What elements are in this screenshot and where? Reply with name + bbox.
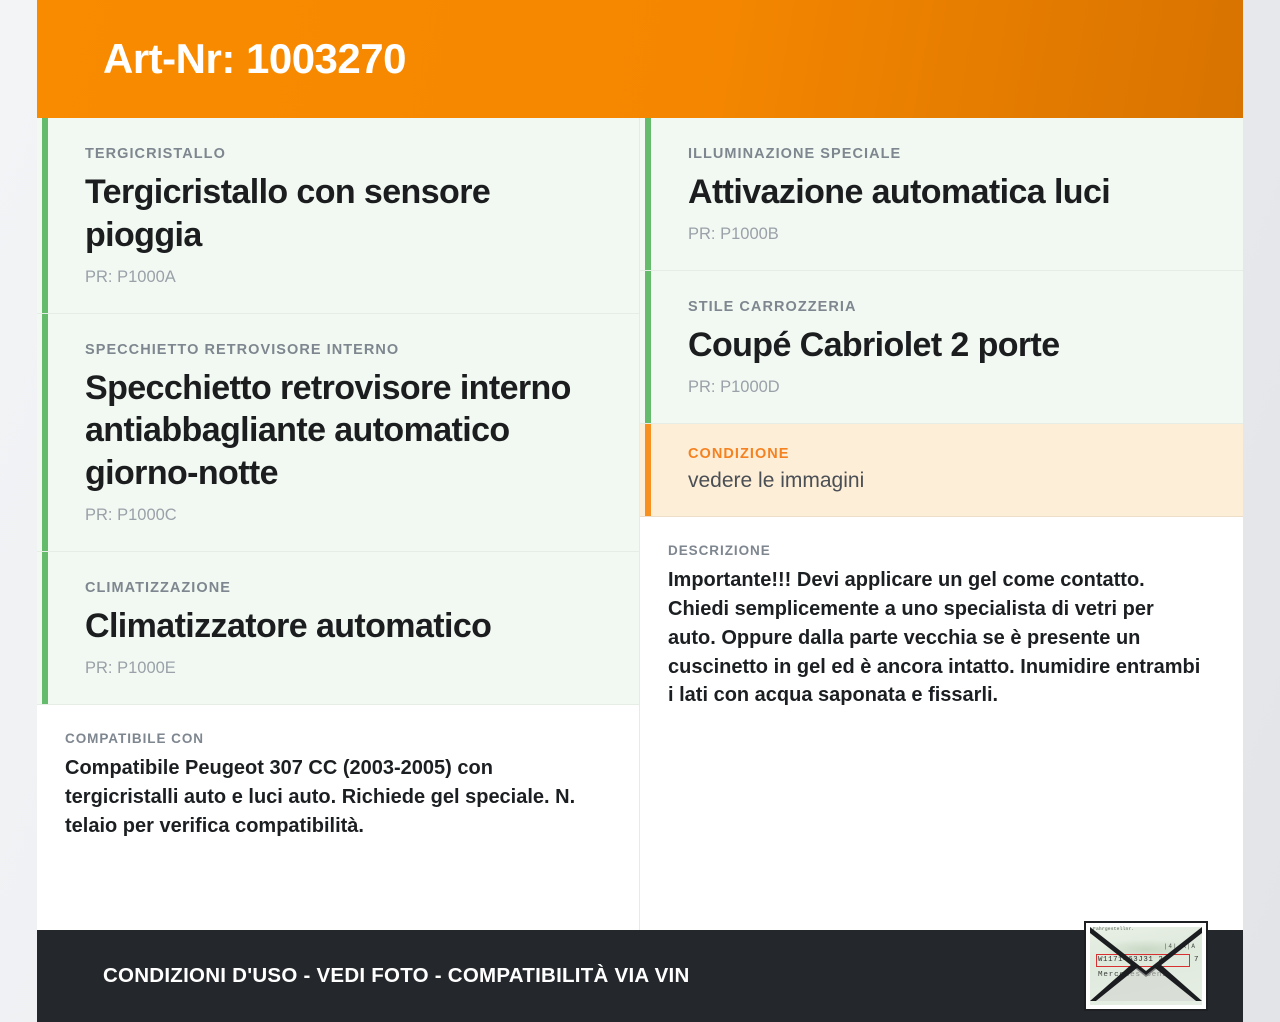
spec-card-climatizzazione[interactable]: CLIMATIZZAZIONE Climatizzatore automatic…: [37, 552, 639, 705]
article-number-title: Art-Nr: 1003270: [37, 35, 406, 83]
right-column: ILLUMINAZIONE SPECIALE Attivazione autom…: [640, 118, 1243, 930]
footer-bar: CONDIZIONI D'USO - VEDI FOTO - COMPATIBI…: [37, 930, 1243, 1022]
vin-side-codes: |4| A|A: [1164, 943, 1196, 950]
vin-number-text: W1171463J31 2: [1098, 956, 1163, 964]
right-column-spacer: [640, 736, 1243, 930]
spec-columns: TERGICRISTALLO Tergicristallo con sensor…: [37, 118, 1243, 930]
header-bar: Art-Nr: 1003270: [37, 0, 1243, 118]
spec-pr-code: PR: P1000D: [688, 378, 1209, 397]
spec-label: ILLUMINAZIONE SPECIALE: [688, 146, 1209, 162]
vin-make-text: Mercedes-Benz: [1098, 971, 1168, 979]
spec-value: Climatizzatore automatico: [85, 605, 605, 648]
spec-card-tergicristallo[interactable]: TERGICRISTALLO Tergicristallo con sensor…: [37, 118, 639, 314]
spec-label: CLIMATIZZAZIONE: [85, 580, 605, 596]
left-column: TERGICRISTALLO Tergicristallo con sensor…: [37, 118, 640, 930]
spec-pr-code: PR: P1000C: [85, 506, 605, 525]
condition-value: vedere le immagini: [688, 468, 1209, 494]
spec-card-carrozzeria[interactable]: STILE CARROZZERIA Coupé Cabriolet 2 port…: [640, 271, 1243, 424]
compatibility-label: COMPATIBILE CON: [65, 731, 599, 746]
vin-envelope-badge[interactable]: Fahrgestellnr. |4| A|A W1171463J31 2 7 M…: [1084, 921, 1208, 1011]
product-listing-card: Art-Nr: 1003270 TERGICRISTALLO Tergicris…: [37, 0, 1243, 1022]
spec-value: Attivazione automatica luci: [688, 171, 1209, 214]
spec-value: Specchietto retrovisore interno antiabba…: [85, 367, 605, 495]
spec-pr-code: PR: P1000E: [85, 659, 605, 678]
spec-value: Coupé Cabriolet 2 porte: [688, 324, 1209, 367]
condition-card[interactable]: CONDIZIONE vedere le immagini: [640, 424, 1243, 517]
spec-card-illuminazione[interactable]: ILLUMINAZIONE SPECIALE Attivazione autom…: [640, 118, 1243, 271]
spec-label: TERGICRISTALLO: [85, 146, 605, 162]
spec-pr-code: PR: P1000A: [85, 268, 605, 287]
spec-label: SPECCHIETTO RETROVISORE INTERNO: [85, 342, 605, 358]
compatibility-text: Compatibile Peugeot 307 CC (2003-2005) c…: [65, 754, 599, 840]
description-block: DESCRIZIONE Importante!!! Devi applicare…: [640, 517, 1243, 736]
compatibility-block: COMPATIBILE CON Compatibile Peugeot 307 …: [37, 705, 639, 866]
left-column-spacer: [37, 866, 639, 930]
description-label: DESCRIZIONE: [668, 543, 1203, 558]
spec-pr-code: PR: P1000B: [688, 225, 1209, 244]
spec-value: Tergicristallo con sensore pioggia: [85, 171, 605, 257]
vin-caption-label: Fahrgestellnr.: [1093, 927, 1134, 932]
description-text: Importante!!! Devi applicare un gel come…: [668, 566, 1203, 710]
footer-terms-text: CONDIZIONI D'USO - VEDI FOTO - COMPATIBI…: [37, 964, 690, 988]
spec-card-specchietto[interactable]: SPECCHIETTO RETROVISORE INTERNO Specchie…: [37, 314, 639, 552]
vin-number-tail: 7: [1194, 956, 1198, 964]
condition-label: CONDIZIONE: [688, 446, 1209, 462]
spec-label: STILE CARROZZERIA: [688, 299, 1209, 315]
